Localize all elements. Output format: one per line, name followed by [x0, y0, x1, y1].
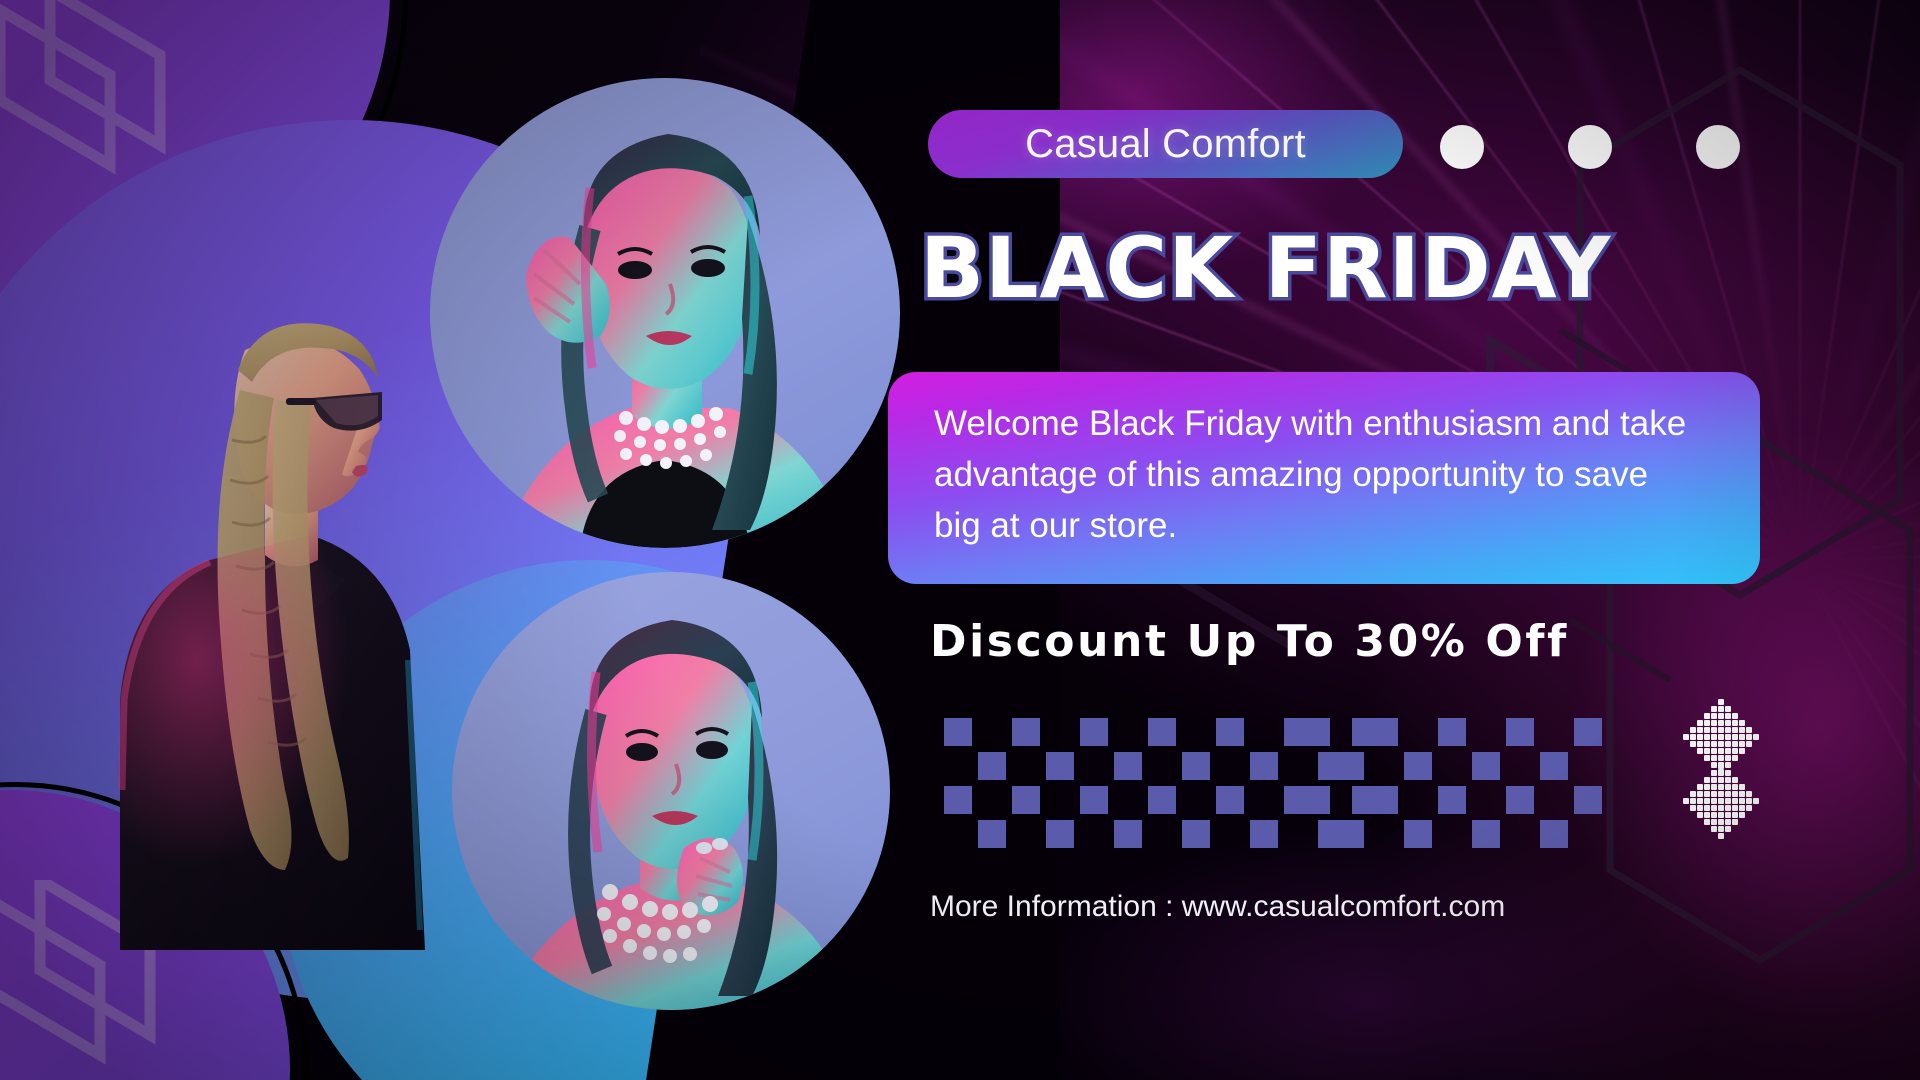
checker-cell — [1438, 786, 1466, 814]
diamond-dot — [1697, 784, 1703, 790]
diamond-dot — [1711, 734, 1717, 740]
diamond-dot — [1704, 734, 1710, 740]
diamond-dot — [1725, 805, 1731, 811]
diamond-dot — [1683, 734, 1689, 740]
diamond-dot — [1718, 791, 1724, 797]
diamond-dot — [1732, 713, 1738, 719]
checker-cell — [1080, 718, 1108, 746]
checker-cell — [1404, 752, 1432, 780]
model-top-photo — [430, 78, 900, 548]
diamond-dot — [1718, 734, 1724, 740]
diamond-dot — [1718, 819, 1724, 825]
diamond-dot — [1697, 805, 1703, 811]
diamond-dot — [1732, 791, 1738, 797]
diamond-dot — [1690, 805, 1696, 811]
diamond-dot — [1725, 734, 1731, 740]
header-dot-1 — [1440, 125, 1484, 169]
diamond-dot — [1711, 755, 1717, 761]
diamond-dot — [1718, 748, 1724, 754]
discount-text: Discount Up To 30% Off — [930, 616, 1750, 667]
diamond-dot — [1725, 748, 1731, 754]
diamond-dot — [1739, 791, 1745, 797]
diamond-dot — [1718, 798, 1724, 804]
diamond-dot — [1718, 784, 1724, 790]
promo-panel: Welcome Black Friday with enthusiasm and… — [888, 372, 1760, 584]
diamond-dot — [1711, 819, 1717, 825]
checker-cell — [978, 820, 1006, 848]
diamond-dot — [1711, 791, 1717, 797]
checker-cell — [1148, 718, 1176, 746]
diamond-dot — [1725, 826, 1731, 832]
diamond-dot — [1739, 734, 1745, 740]
diamond-dot — [1718, 755, 1724, 761]
diamond-dot — [1739, 748, 1745, 754]
checker-cell — [1370, 786, 1398, 814]
diamond-dot — [1732, 748, 1738, 754]
diamond-dot — [1718, 699, 1724, 705]
checker-cell — [1336, 752, 1364, 780]
diamond-dot — [1718, 770, 1724, 776]
diamond-dot — [1718, 720, 1724, 726]
discount-heading: Discount Up To 30% Off — [930, 616, 1750, 672]
diamond-dot — [1732, 812, 1738, 818]
diamond-dot — [1718, 727, 1724, 733]
diamond-dot — [1739, 784, 1745, 790]
checker-cell — [1216, 786, 1244, 814]
diamond-dot — [1732, 805, 1738, 811]
diamond-dot — [1739, 741, 1745, 747]
diamond-dot — [1704, 755, 1710, 761]
diamond-dot — [1711, 798, 1717, 804]
diamond-dot — [1711, 748, 1717, 754]
diamond-dot — [1718, 741, 1724, 747]
diamond-dot — [1704, 805, 1710, 811]
diamond-dot — [1711, 805, 1717, 811]
diamond-dot — [1711, 713, 1717, 719]
diamond-dot — [1753, 734, 1759, 740]
diamond-dot — [1732, 720, 1738, 726]
diamond-dot — [1711, 706, 1717, 712]
checker-cell — [1302, 718, 1330, 746]
checker-cell — [1540, 752, 1568, 780]
diamond-dot — [1704, 812, 1710, 818]
diamond-dot — [1704, 791, 1710, 797]
diamond-dot — [1746, 791, 1752, 797]
diamond-dot — [1718, 706, 1724, 712]
diamond-dot — [1732, 777, 1738, 783]
checker-cell — [1182, 752, 1210, 780]
diamond-dot — [1704, 741, 1710, 747]
checker-cell — [1046, 752, 1074, 780]
diamond-dot — [1732, 819, 1738, 825]
checker-cell — [978, 752, 1006, 780]
diamond-dot — [1711, 777, 1717, 783]
checker-cell — [1404, 820, 1432, 848]
diamond-dot — [1690, 734, 1696, 740]
diamond-dot — [1739, 805, 1745, 811]
checker-cell — [1182, 820, 1210, 848]
diamond-dot — [1725, 784, 1731, 790]
diamond-dot — [1711, 727, 1717, 733]
diamond-dot — [1718, 826, 1724, 832]
headline-text: BLACK FRIDAY — [920, 222, 1800, 314]
diamond-dot — [1739, 727, 1745, 733]
diamond-dot — [1725, 762, 1731, 768]
diamond-dot-ornament-icon — [1678, 700, 1762, 836]
diamond-dot — [1725, 720, 1731, 726]
diamond-dot — [1704, 720, 1710, 726]
checker-cell — [1080, 786, 1108, 814]
diamond-dot — [1732, 798, 1738, 804]
checker-cell — [1574, 786, 1602, 814]
checker-cell — [1472, 820, 1500, 848]
diamond-dot — [1725, 819, 1731, 825]
diamond-dot — [1725, 791, 1731, 797]
checker-cell — [1114, 820, 1142, 848]
diamond-dot — [1711, 826, 1717, 832]
diamond-dot — [1732, 734, 1738, 740]
checker-cell — [944, 718, 972, 746]
footer-more-info-text: More Information : www.casualcomfort.com — [930, 890, 1505, 923]
checker-cell — [1540, 820, 1568, 848]
diamond-dot — [1711, 770, 1717, 776]
diamond-dot — [1697, 791, 1703, 797]
checker-cell — [1574, 718, 1602, 746]
diamond-dot — [1718, 763, 1724, 769]
diamond-dot — [1746, 727, 1752, 733]
checker-cell — [1250, 752, 1278, 780]
checker-cell — [1148, 786, 1176, 814]
diamond-dot — [1704, 713, 1710, 719]
diamond-dot — [1732, 755, 1738, 761]
diamond-dot — [1711, 784, 1717, 790]
diamond-dot — [1725, 798, 1731, 804]
diamond-dot — [1739, 798, 1745, 804]
diamond-dot — [1690, 798, 1696, 804]
checker-cell — [1114, 752, 1142, 780]
checker-cell — [1370, 718, 1398, 746]
diamond-dot — [1697, 798, 1703, 804]
checker-cell — [1506, 786, 1534, 814]
diamond-dot — [1746, 805, 1752, 811]
diamond-dot — [1690, 727, 1696, 733]
diamond-dot — [1718, 713, 1724, 719]
checker-cell — [1336, 820, 1364, 848]
diamond-dot — [1725, 777, 1731, 783]
black-friday-banner: Casual Comfort BLACK FRIDAY Welcome Blac… — [0, 0, 1920, 1080]
diamond-dot — [1725, 755, 1731, 761]
checker-cell — [1472, 752, 1500, 780]
header-dot-2 — [1568, 125, 1612, 169]
diamond-dot — [1739, 812, 1745, 818]
diamond-dot — [1725, 706, 1731, 712]
diamond-dot — [1732, 741, 1738, 747]
checker-cell — [1438, 718, 1466, 746]
diamond-dot — [1718, 805, 1724, 811]
diamond-dot — [1746, 734, 1752, 740]
checker-cell — [1506, 718, 1534, 746]
diamond-dot — [1711, 812, 1717, 818]
diamond-dot — [1711, 720, 1717, 726]
checker-cell — [944, 786, 972, 814]
diamond-dot — [1683, 798, 1689, 804]
diamond-dot — [1704, 748, 1710, 754]
diamond-dot — [1697, 741, 1703, 747]
diamond-dot — [1690, 741, 1696, 747]
diamond-dot — [1746, 741, 1752, 747]
diamond-dot — [1704, 777, 1710, 783]
diamond-dot — [1697, 727, 1703, 733]
checker-pattern-right — [1302, 718, 1614, 826]
diamond-dot — [1725, 812, 1731, 818]
diamond-dot — [1725, 770, 1731, 776]
brand-badge-label: Casual Comfort — [1025, 122, 1306, 167]
promo-paragraph: Welcome Black Friday with enthusiasm and… — [934, 398, 1694, 551]
diamond-dot — [1725, 727, 1731, 733]
diamond-dot — [1704, 798, 1710, 804]
diamond-dot — [1725, 741, 1731, 747]
header-dots-group — [1440, 125, 1740, 169]
header-dot-3 — [1696, 125, 1740, 169]
diamond-dot — [1697, 720, 1703, 726]
checker-cell — [1250, 820, 1278, 848]
diamond-dot — [1697, 748, 1703, 754]
checker-cell — [1302, 786, 1330, 814]
diamond-dot — [1704, 727, 1710, 733]
diamond-dot — [1697, 734, 1703, 740]
diamond-dot — [1718, 833, 1724, 839]
diamond-dot — [1753, 798, 1759, 804]
checker-cell — [1012, 718, 1040, 746]
diamond-dot — [1704, 819, 1710, 825]
model-bottom-photo — [452, 572, 890, 1010]
checker-cell — [1216, 718, 1244, 746]
diamond-dot — [1697, 812, 1703, 818]
footer-more-info: More Information : www.casualcomfort.com — [930, 890, 1830, 930]
diamond-dot — [1718, 777, 1724, 783]
diamond-dot — [1732, 784, 1738, 790]
diamond-dot — [1690, 791, 1696, 797]
checker-cell — [1046, 820, 1074, 848]
diamond-dot — [1704, 784, 1710, 790]
diamond-dot — [1711, 741, 1717, 747]
diamond-dot — [1732, 727, 1738, 733]
checker-cell — [1012, 786, 1040, 814]
diamond-dot — [1725, 713, 1731, 719]
diamond-dot — [1711, 762, 1717, 768]
page-title: BLACK FRIDAY — [920, 222, 1800, 314]
brand-badge[interactable]: Casual Comfort — [928, 110, 1403, 178]
diamond-dot — [1739, 720, 1745, 726]
diamond-dot — [1746, 798, 1752, 804]
diamond-dot — [1718, 812, 1724, 818]
